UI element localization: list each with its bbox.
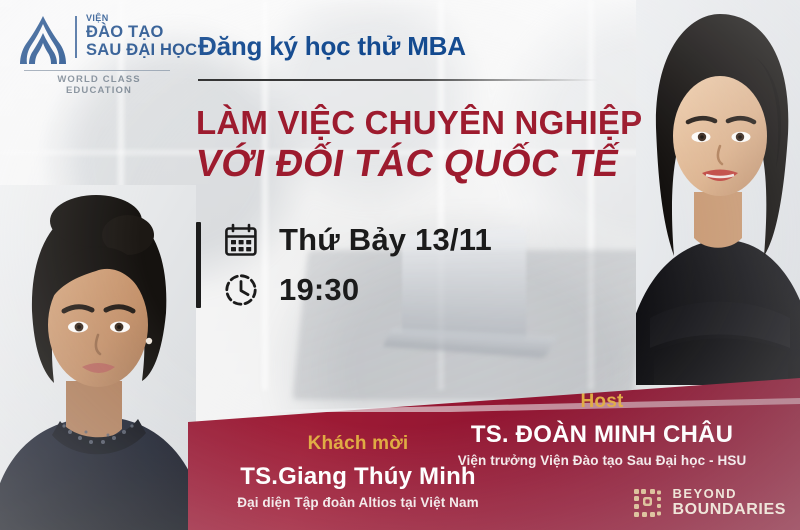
clock-icon — [223, 272, 259, 308]
logo-line-3: SAU ĐẠI HỌC — [86, 42, 197, 59]
event-time-text: 19:30 — [279, 272, 359, 308]
poster-headline: LÀM VIỆC CHUYÊN NGHIỆP VỚI ĐỐI TÁC QUỐC … — [196, 106, 642, 184]
webinar-poster: VIỆN ĐÀO TẠO SAU ĐẠI HỌC WORLD CLASS EDU… — [0, 0, 800, 530]
when-accent-bar — [196, 222, 201, 308]
mountain-logo-icon — [18, 14, 68, 66]
partner-logo-line-1: BEYOND — [672, 487, 786, 500]
header-divider — [198, 79, 598, 81]
logo-line-1: VIỆN — [86, 14, 197, 23]
logo-wordmark: VIỆN ĐÀO TẠO SAU ĐẠI HỌC — [86, 14, 197, 58]
mosaic-square-icon — [633, 488, 663, 518]
logo-tagline: WORLD CLASS EDUCATION — [24, 74, 174, 96]
beyond-boundaries-logo: BEYOND BOUNDARIES — [633, 487, 786, 518]
logo-rule — [24, 70, 170, 71]
calendar-icon — [223, 222, 259, 258]
event-when-block: Thứ Bảy 13/11 19:30 — [196, 222, 492, 308]
host-info: Host TS. ĐOÀN MINH CHÂU Viện trưởng Viện… — [418, 391, 786, 470]
event-date-text: Thứ Bảy 13/11 — [279, 222, 492, 258]
partner-logo-line-2: BOUNDARIES — [672, 502, 786, 518]
logo-divider — [75, 16, 77, 58]
host-role-label: Host — [418, 391, 786, 414]
guest-title: Đại diện Tập đoàn Altios tại Việt Nam — [208, 495, 508, 512]
host-title: Viện trưởng Viện Đào tạo Sau Đại học - H… — [418, 453, 786, 470]
poster-kicker: Đăng ký học thử MBA — [198, 31, 466, 62]
headline-line-1: LÀM VIỆC CHUYÊN NGHIỆP — [196, 106, 642, 141]
poster-header: VIỆN ĐÀO TẠO SAU ĐẠI HỌC WORLD CLASS EDU… — [0, 0, 800, 88]
logo-line-2: ĐÀO TẠO — [86, 24, 197, 41]
host-name: TS. ĐOÀN MINH CHÂU — [418, 420, 786, 450]
event-date-row: Thứ Bảy 13/11 — [223, 222, 492, 258]
event-time-row: 19:30 — [223, 272, 492, 308]
guest-portrait — [0, 185, 196, 530]
headline-line-2: VỚI ĐỐI TÁC QUỐC TẾ — [193, 145, 646, 185]
institute-logo: VIỆN ĐÀO TẠO SAU ĐẠI HỌC — [18, 14, 197, 66]
